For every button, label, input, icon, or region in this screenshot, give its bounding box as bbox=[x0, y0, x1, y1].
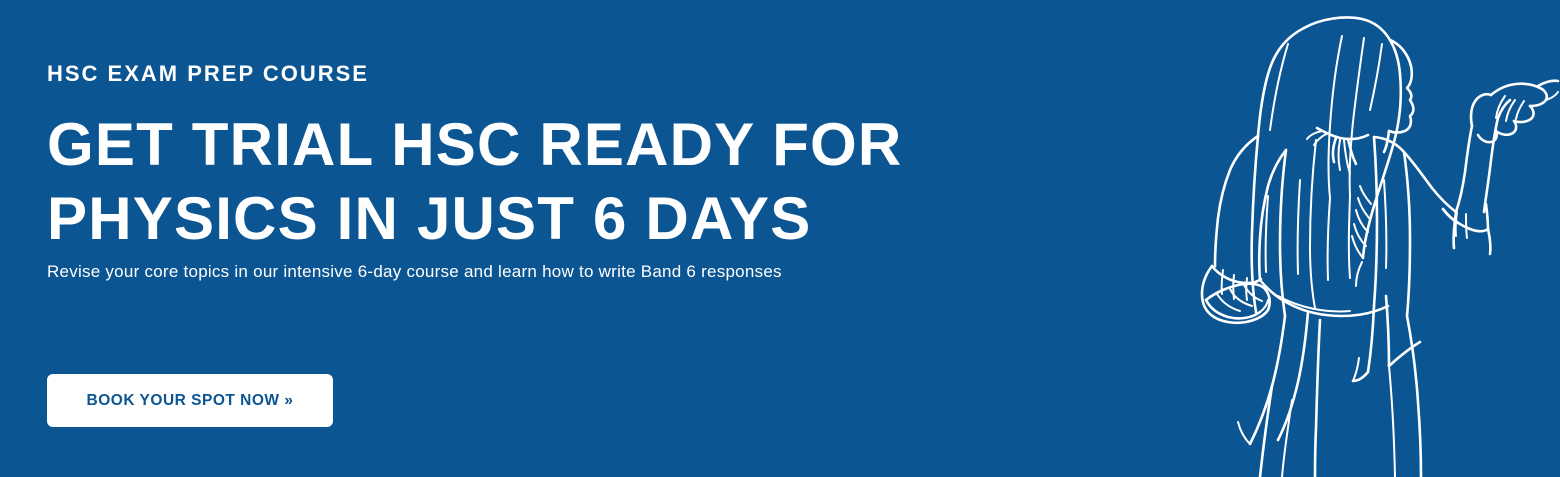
banner-subheading: Revise your core topics in our intensive… bbox=[47, 259, 782, 285]
headline-line-2: PHYSICS IN JUST 6 DAYS bbox=[47, 182, 902, 256]
book-your-spot-button[interactable]: BOOK YOUR SPOT NOW » bbox=[47, 374, 333, 427]
page-title: GET TRIAL HSC READY FOR PHYSICS IN JUST … bbox=[47, 108, 902, 256]
banner-eyebrow: HSC EXAM PREP COURSE bbox=[47, 59, 369, 89]
line-art-woman-writing-illustration bbox=[1160, 0, 1560, 477]
headline-line-1: GET TRIAL HSC READY FOR bbox=[47, 108, 902, 182]
hsc-exam-prep-promo-banner: HSC EXAM PREP COURSE GET TRIAL HSC READY… bbox=[0, 0, 1560, 477]
banner-content: HSC EXAM PREP COURSE GET TRIAL HSC READY… bbox=[47, 0, 1097, 477]
